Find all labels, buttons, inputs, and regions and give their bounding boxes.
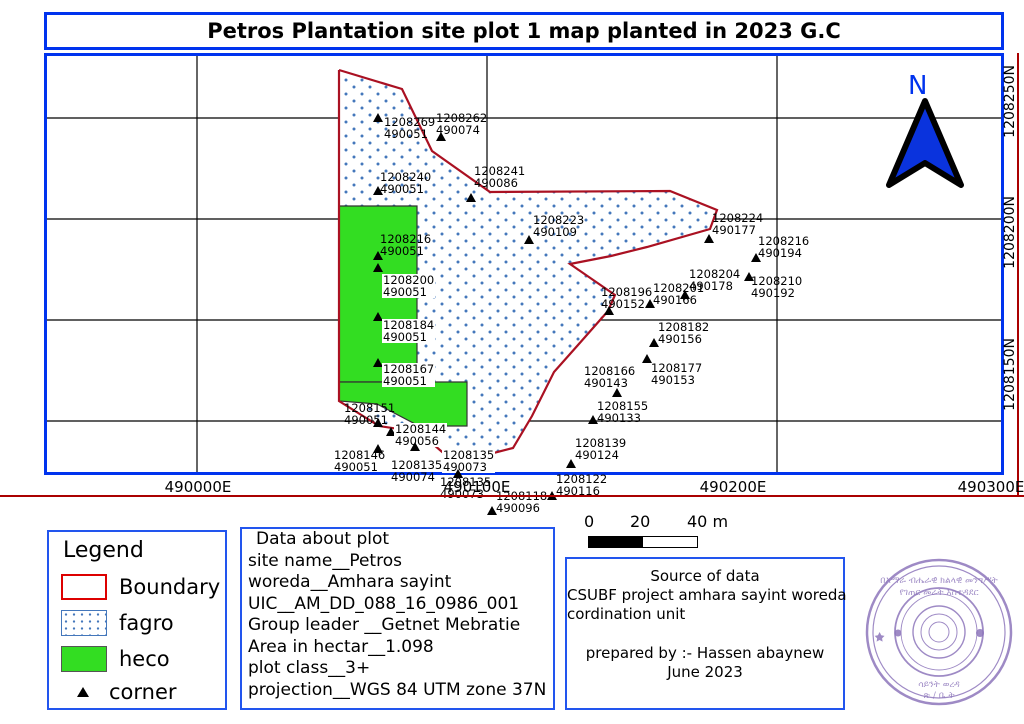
scale-bar-light-half bbox=[643, 537, 697, 547]
north-letter: N bbox=[908, 71, 927, 101]
corner-easting: 490051 bbox=[334, 461, 385, 473]
corner-easting: 490153 bbox=[651, 374, 702, 386]
corner-label: 1208216490051 bbox=[380, 233, 431, 257]
scale-bar-graphic bbox=[588, 536, 698, 548]
svg-text:በአማራ ብሔራዊ ክልላዊ መንግሥት: በአማራ ብሔራዊ ክልላዊ መንግሥት bbox=[880, 576, 997, 586]
corner-easting: 490143 bbox=[584, 377, 635, 389]
corner-easting: 490133 bbox=[597, 412, 648, 424]
prepared-by-line: prepared by :- Hassen abaynew bbox=[567, 644, 843, 663]
corner-easting: 490194 bbox=[758, 247, 809, 259]
corner-label: 1208241490086 bbox=[474, 165, 525, 189]
corner-label: 1208224490177 bbox=[712, 212, 763, 236]
corner-easting: 490177 bbox=[712, 224, 763, 236]
corner-label: 1208182490156 bbox=[658, 321, 709, 345]
north-arrow: N bbox=[865, 75, 985, 195]
legend-label-fagro: fagro bbox=[119, 611, 174, 635]
data-line-woreda: woreda__Amhara sayint bbox=[242, 572, 553, 594]
corner-easting: 490156 bbox=[658, 333, 709, 345]
svg-text:ጽ / ቤ ት: ጽ / ቤ ት bbox=[923, 691, 954, 701]
corner-easting: 490051 bbox=[383, 375, 434, 387]
corner-label: 1208146490051 bbox=[334, 449, 385, 473]
legend-item-corner: corner bbox=[61, 680, 177, 704]
map-canvas bbox=[47, 56, 1001, 472]
x-tick-label-1: 490100E bbox=[444, 478, 511, 496]
scale-bar-dark-half bbox=[589, 537, 643, 547]
corner-label: 1208167490051 bbox=[382, 363, 435, 387]
corner-label: 1208184490051 bbox=[382, 319, 435, 343]
corner-easting: 490051 bbox=[380, 245, 431, 257]
scale-bar: 0 20 40 m bbox=[580, 512, 780, 554]
prepared-date-line: June 2023 bbox=[567, 663, 843, 682]
heco-swatch bbox=[61, 646, 107, 672]
x-tick-label-2: 490200E bbox=[700, 478, 767, 496]
corner-easting: 490096 bbox=[496, 502, 547, 514]
corner-label: 1208177490153 bbox=[651, 362, 702, 386]
y-tick-label-1: 1208200N bbox=[1002, 196, 1018, 269]
data-line-plot-class: plot class__3+ bbox=[242, 658, 553, 680]
corner-label: 1208262490074 bbox=[436, 112, 487, 136]
corner-easting: 490109 bbox=[533, 226, 584, 238]
corner-easting: 490073 bbox=[443, 461, 494, 473]
legend-title: Legend bbox=[63, 538, 144, 563]
legend-item-heco: heco bbox=[61, 646, 170, 672]
data-line-site-name: site name__Petros bbox=[242, 551, 553, 573]
corner-easting: 490051 bbox=[383, 331, 434, 343]
legend-label-boundary: Boundary bbox=[119, 575, 220, 599]
corner-label: 1208155490133 bbox=[597, 400, 648, 424]
y-tick-label-2: 1208150N bbox=[1002, 338, 1018, 411]
corner-label: 1208240490051 bbox=[380, 171, 431, 195]
corner-marker bbox=[466, 193, 476, 202]
fagro-swatch bbox=[61, 610, 107, 636]
data-line-projection: projection__WGS 84 UTM zone 37N bbox=[242, 680, 553, 702]
x-tick-label-3: 490300E bbox=[958, 478, 1024, 496]
scale-bar-ticks: 0 20 40 m bbox=[580, 512, 780, 532]
corner-label: 1208210490192 bbox=[751, 275, 802, 299]
legend-panel: Legend Boundary fagro heco corner bbox=[47, 530, 227, 710]
corner-label: 1208135490074 bbox=[391, 459, 442, 483]
data-panel-heading: Data about plot bbox=[242, 529, 553, 551]
corner-label: 1208122490116 bbox=[556, 473, 607, 497]
corner-easting: 490152 bbox=[601, 298, 652, 310]
corner-label: 1208200490051 bbox=[382, 274, 435, 298]
corner-label: 1208201490166 bbox=[653, 282, 704, 306]
corner-label: 1208196490152 bbox=[601, 286, 652, 310]
corner-label: 1208139490124 bbox=[575, 437, 626, 461]
corner-easting: 490074 bbox=[391, 471, 442, 483]
corner-easting: 490124 bbox=[575, 449, 626, 461]
data-line-uic: UIC__AM_DD_088_16_0986_001 bbox=[242, 594, 553, 616]
x-tick-label-0: 490000E bbox=[165, 478, 232, 496]
source-heading: Source of data bbox=[567, 567, 843, 586]
corner-easting: 490166 bbox=[653, 294, 704, 306]
scale-tick-20: 20 bbox=[630, 512, 650, 531]
corner-label: 1208269490051 bbox=[384, 116, 435, 140]
data-line-area: Area in hectar__1.098 bbox=[242, 637, 553, 659]
corner-label: 1208135490073 bbox=[442, 449, 495, 473]
corner-label: 1208216490194 bbox=[758, 235, 809, 259]
corner-easting: 490056 bbox=[395, 435, 446, 447]
legend-item-boundary: Boundary bbox=[61, 574, 220, 600]
corner-label: 1208223490109 bbox=[533, 214, 584, 238]
legend-label-heco: heco bbox=[119, 647, 170, 671]
corner-easting: 490051 bbox=[384, 128, 435, 140]
boundary-swatch bbox=[61, 574, 107, 600]
corner-label: 1208166490143 bbox=[584, 365, 635, 389]
scale-tick-0: 0 bbox=[584, 512, 594, 531]
page-title: Petros Plantation site plot 1 map plante… bbox=[207, 19, 841, 43]
y-tick-label-0: 1208250N bbox=[1002, 65, 1018, 138]
corner-label: 1208144490056 bbox=[394, 423, 447, 447]
corner-marker bbox=[373, 113, 383, 122]
source-line-1: CSUBF project amhara sayint woreda bbox=[567, 586, 843, 605]
corner-marker bbox=[410, 442, 420, 451]
corner-easting: 490051 bbox=[380, 183, 431, 195]
corner-easting: 490192 bbox=[751, 287, 802, 299]
corner-marker bbox=[373, 263, 383, 272]
corner-marker-icon bbox=[77, 687, 89, 697]
scale-tick-40: 40 m bbox=[687, 512, 728, 531]
data-about-plot-panel: Data about plot site name__Petros woreda… bbox=[240, 527, 555, 710]
data-line-group-leader: Group leader __Getnet Mebratie bbox=[242, 615, 553, 637]
map-frame[interactable] bbox=[44, 53, 1004, 475]
source-line-2: cordination unit bbox=[567, 605, 843, 624]
svg-text:የገጠር መሬት አስተዳደር: የገጠር መሬት አስተዳደር bbox=[899, 588, 978, 598]
corner-easting: 490074 bbox=[436, 124, 487, 136]
svg-text:ሳይንት ወረዳ: ሳይንት ወረዳ bbox=[918, 680, 960, 690]
legend-item-fagro: fagro bbox=[61, 610, 174, 636]
corner-label: 1208151490051 bbox=[344, 402, 395, 426]
official-seal: በአማራ ብሔራዊ ክልላዊ መንግሥት የገጠር መሬት አስተዳደር ሳይን… bbox=[862, 555, 1017, 710]
corner-easting: 490051 bbox=[344, 414, 395, 426]
source-of-data-panel: Source of data CSUBF project amhara sayi… bbox=[565, 557, 845, 710]
corner-easting: 490086 bbox=[474, 177, 525, 189]
legend-label-corner: corner bbox=[109, 680, 177, 704]
corner-easting: 490051 bbox=[383, 286, 434, 298]
map-title-frame: Petros Plantation site plot 1 map plante… bbox=[44, 12, 1004, 50]
x-axis-line bbox=[0, 495, 1024, 497]
